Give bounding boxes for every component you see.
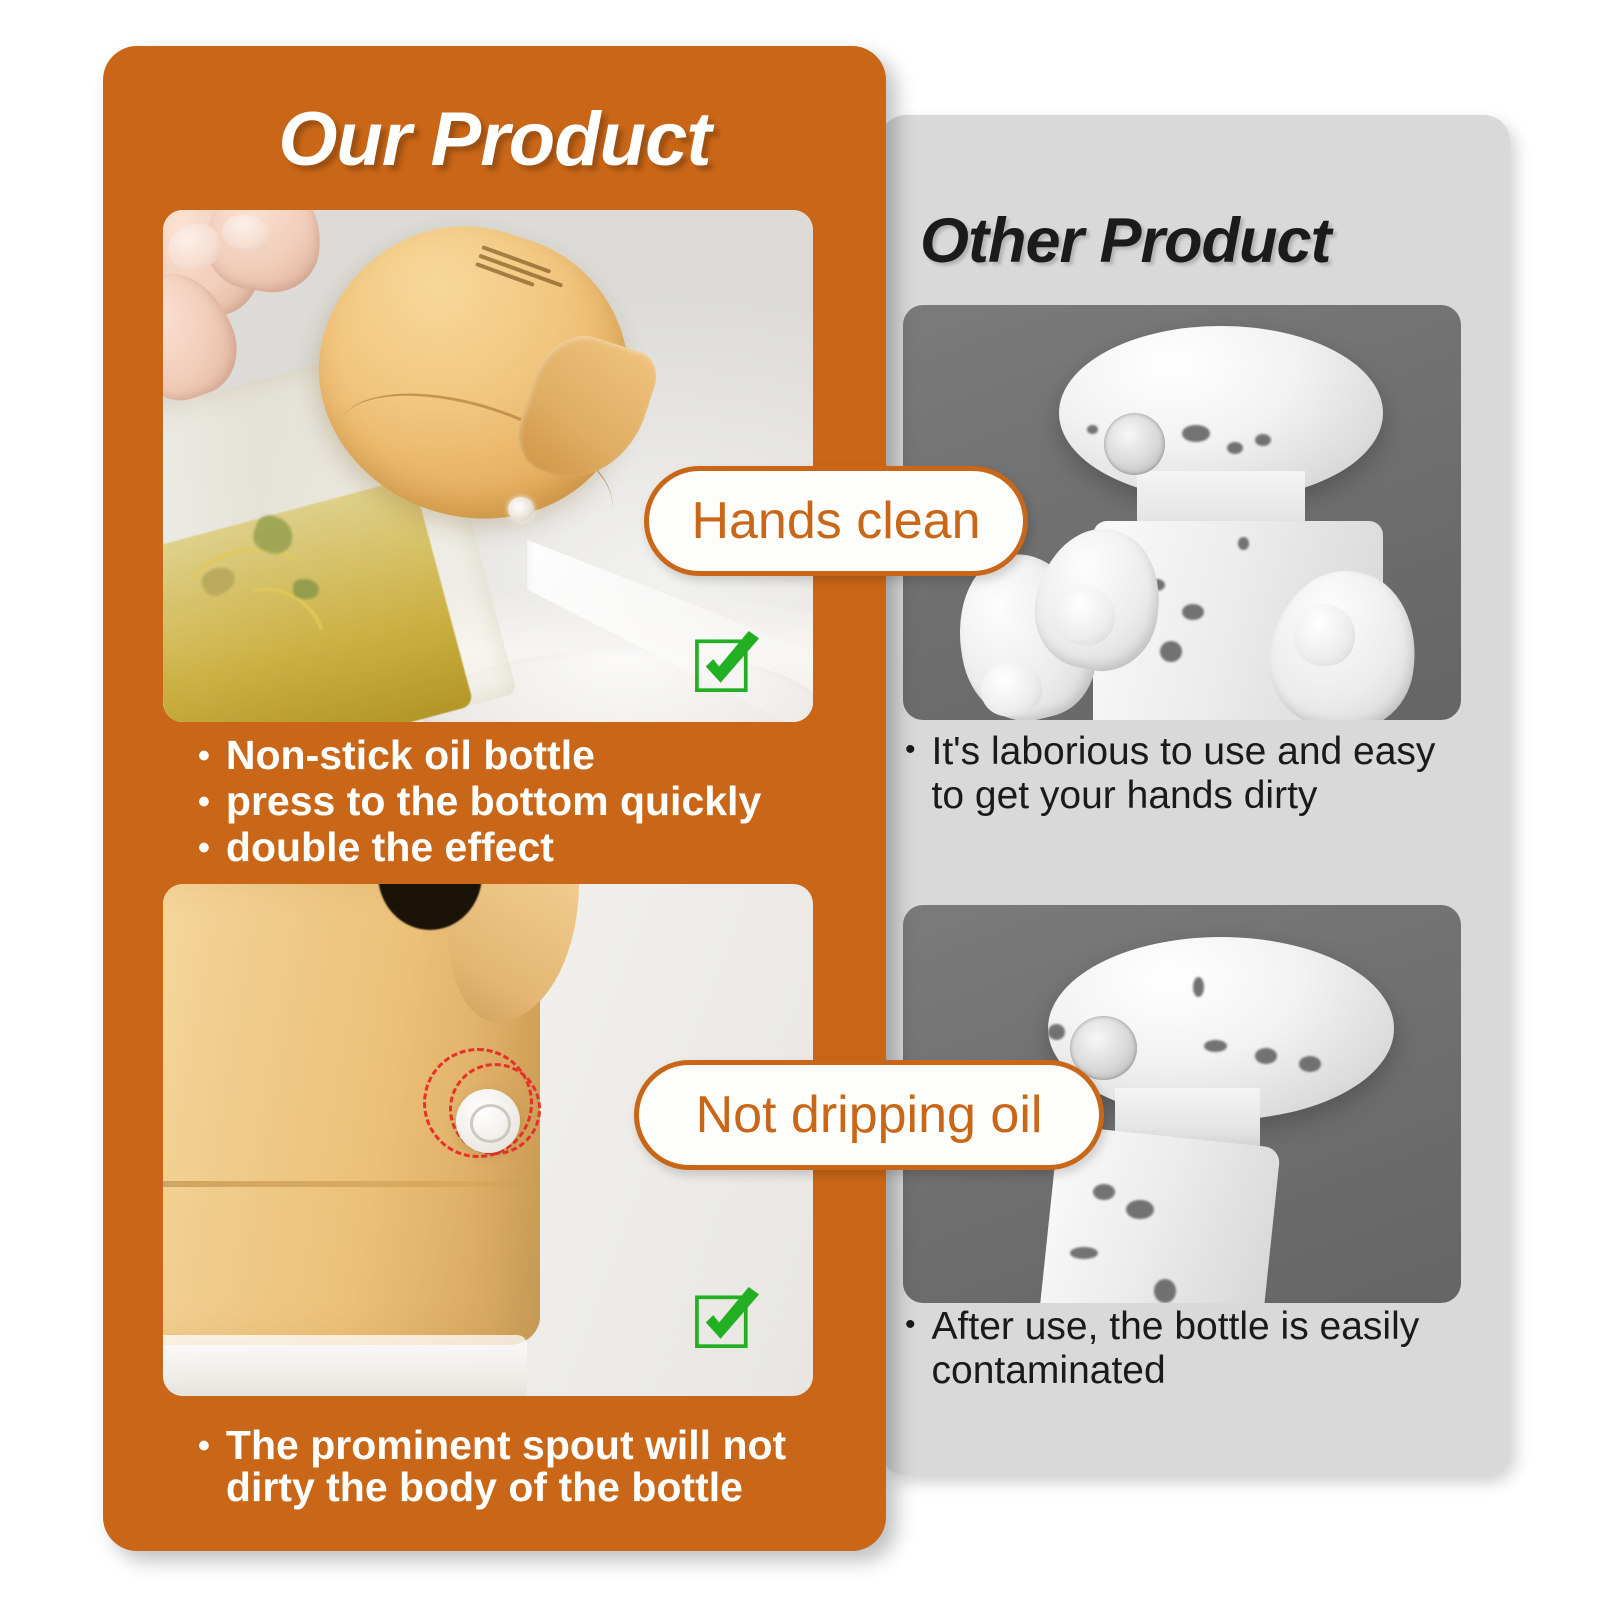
- bullet-text: The prominent spout will not dirty the b…: [226, 1425, 838, 1509]
- dirt-spot: [1255, 1048, 1277, 1064]
- bullet-marker: •: [198, 785, 210, 819]
- bullet-text: press to the bottom quickly: [226, 781, 838, 823]
- dirt-spot: [1182, 425, 1210, 442]
- bullet-marker: •: [198, 739, 210, 773]
- dirt-spot: [1193, 977, 1204, 997]
- list-item: • The prominent spout will not dirty the…: [198, 1425, 838, 1509]
- dirt-spot: [1087, 425, 1098, 433]
- herb-bit: [293, 579, 319, 599]
- fingernail: [1294, 604, 1355, 666]
- list-item: • After use, the bottle is easily contam…: [905, 1305, 1465, 1392]
- list-item: • double the effect: [198, 827, 838, 869]
- prominent-spout: [456, 1089, 520, 1153]
- other-product-bullets-bottom: • After use, the bottle is easily contam…: [905, 1305, 1465, 1396]
- bullet-marker: •: [905, 1310, 916, 1340]
- green-check-icon: [691, 1284, 765, 1358]
- list-item: • press to the bottom quickly: [198, 781, 838, 823]
- badge-not-dripping-oil: Not dripping oil: [634, 1060, 1104, 1170]
- list-item: • It's laborious to use and easy to get …: [905, 730, 1465, 817]
- dirt-spot: [1160, 641, 1182, 662]
- bullet-text: After use, the bottle is easily contamin…: [932, 1305, 1465, 1392]
- other-product-title: Other Product: [920, 205, 1331, 277]
- dirt-spot: [1204, 1040, 1226, 1052]
- dirt-spot: [1238, 537, 1249, 549]
- spray-nozzle: [508, 497, 534, 521]
- bullet-text: It's laborious to use and easy to get yo…: [932, 730, 1465, 817]
- pump-screw: [1104, 413, 1165, 475]
- bullet-marker: •: [198, 1429, 210, 1463]
- dirt-spot: [1093, 1184, 1115, 1200]
- other-product-bullets-top: • It's laborious to use and easy to get …: [905, 730, 1465, 821]
- glass-bottle-base: [163, 1335, 527, 1396]
- badge-label: Not dripping oil: [696, 1085, 1043, 1145]
- badge-label: Hands clean: [691, 491, 980, 551]
- bullet-marker: •: [198, 831, 210, 865]
- hand: [163, 210, 410, 435]
- badge-hands-clean: Hands clean: [644, 466, 1028, 576]
- green-check-icon: [691, 628, 765, 702]
- bullet-text: double the effect: [226, 827, 838, 869]
- our-product-bullets-bottom: • The prominent spout will not dirty the…: [198, 1425, 838, 1513]
- bullet-marker: •: [905, 735, 916, 765]
- our-product-bullets-top: • Non-stick oil bottle • press to the bo…: [198, 735, 838, 872]
- our-product-title: Our Product: [103, 96, 886, 183]
- bullet-text: Non-stick oil bottle: [226, 735, 838, 777]
- list-item: • Non-stick oil bottle: [198, 735, 838, 777]
- infographic-stage: Other Product • It's laborious: [0, 0, 1600, 1600]
- cap-seam: [163, 1181, 540, 1187]
